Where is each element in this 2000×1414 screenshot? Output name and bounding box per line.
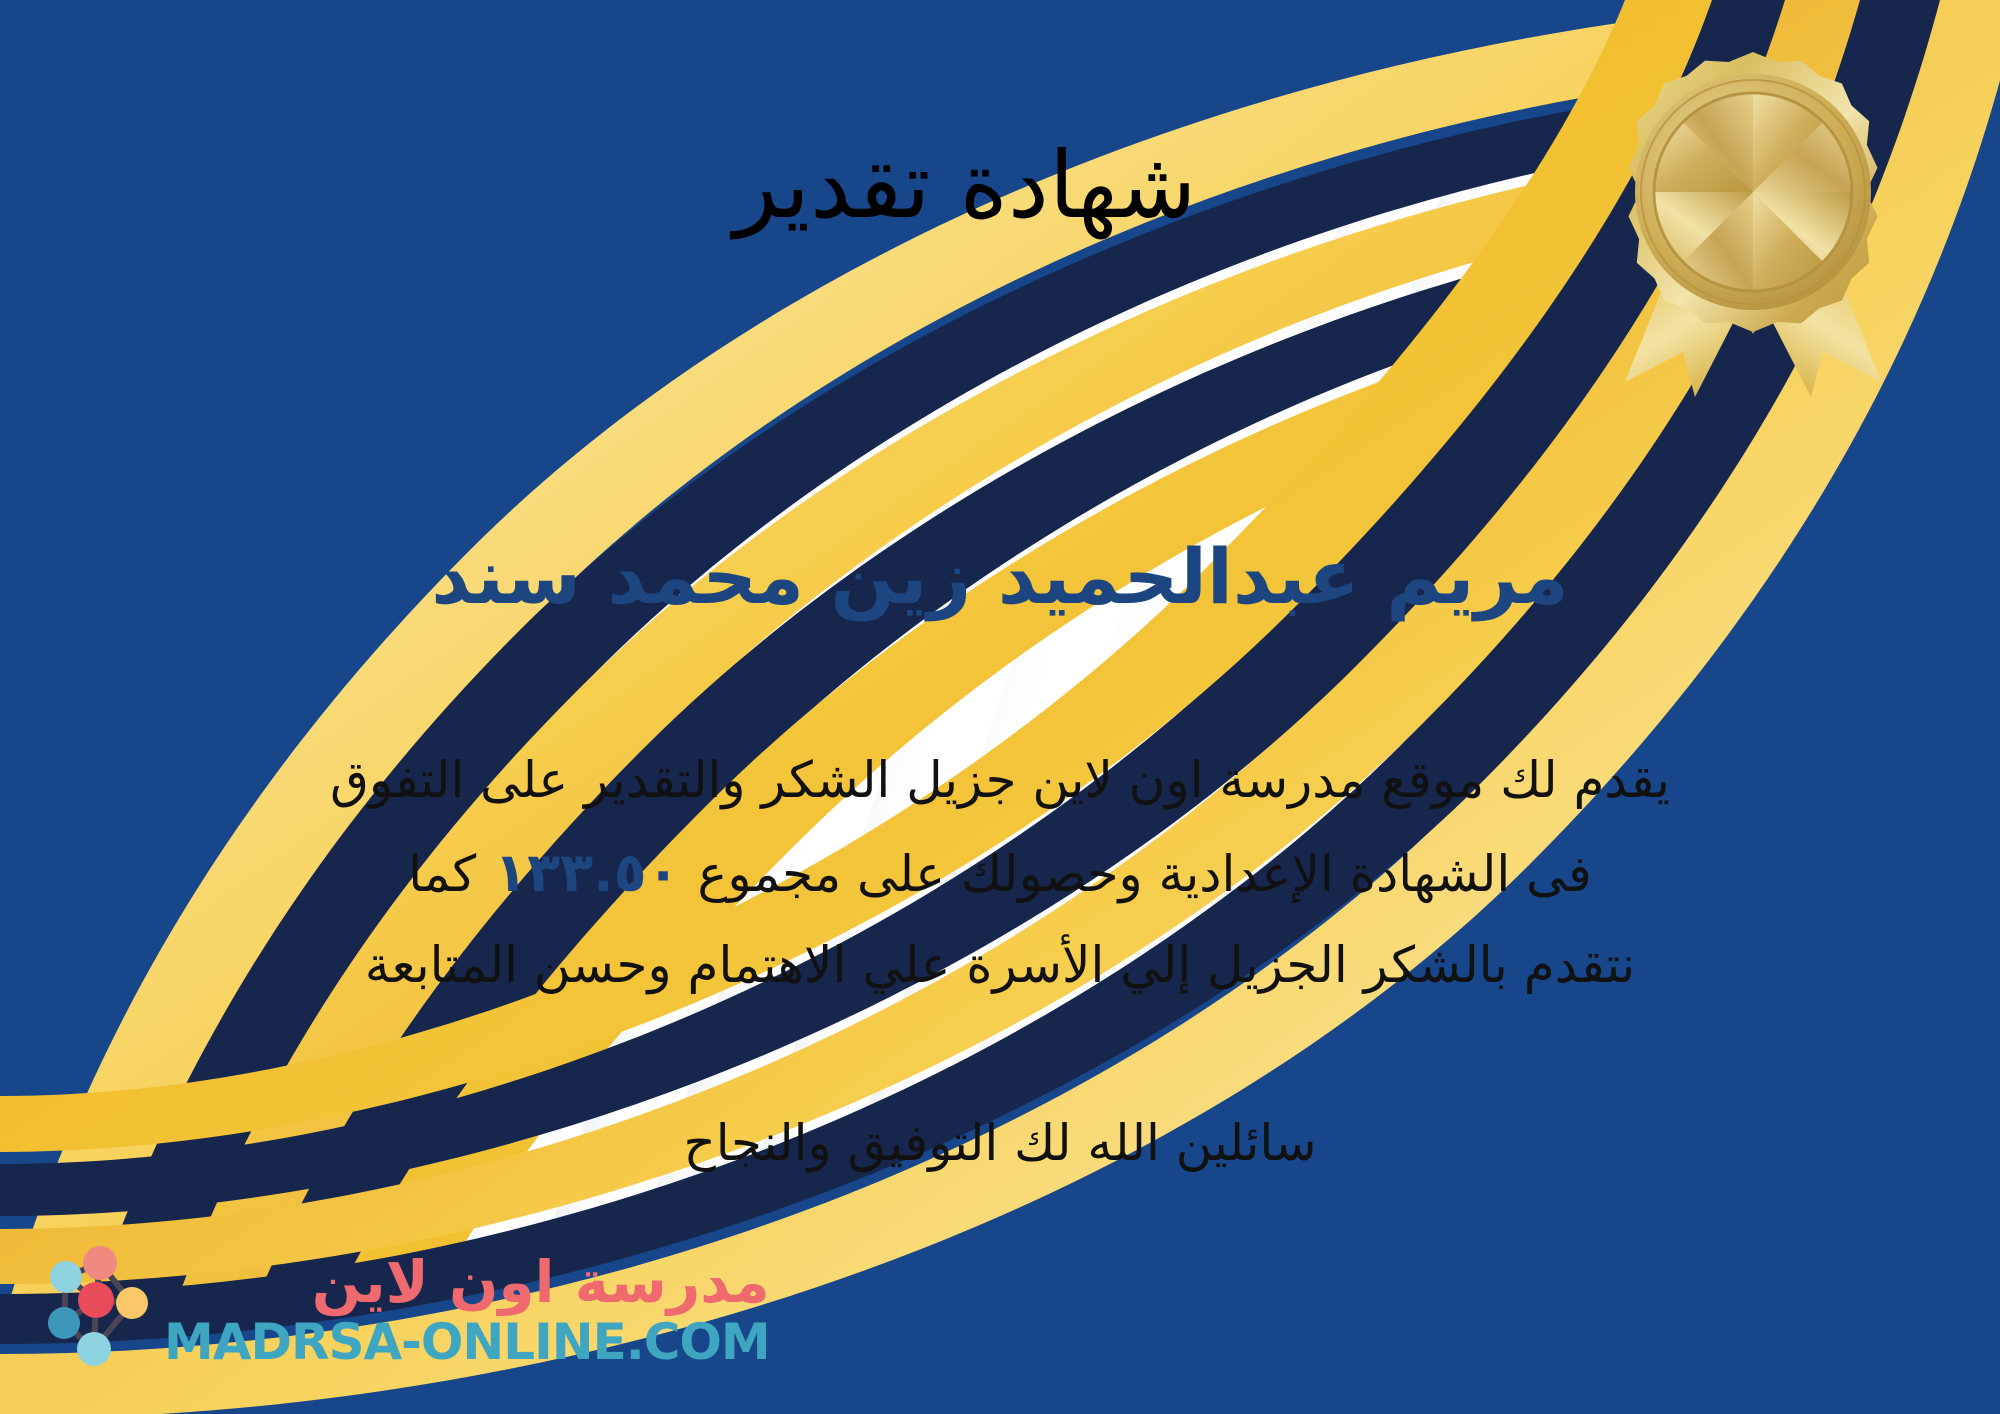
recipient-name: مريم عبدالحميد زين محمد سند	[0, 528, 2000, 627]
body-line-2-text: فى الشهادة الإعدادية وحصولك على مجموع	[698, 845, 1592, 903]
closing-line: سائلين الله لك التوفيق والنجاح	[0, 1114, 2000, 1172]
certificate-canvas: شهادة تقدير مريم عبدالحميد زين محمد سند …	[0, 0, 2000, 1414]
certificate-title: شهادة تقدير	[0, 128, 2000, 243]
brand-text-block: مدرسة اون لاين MADRSA-ONLINE.COM	[164, 1253, 770, 1367]
certificate-content: شهادة تقدير مريم عبدالحميد زين محمد سند …	[0, 0, 2000, 1414]
certificate-body: يقدم لك موقع مدرسة اون لاين جزيل الشكر و…	[60, 736, 1940, 1010]
network-nodes-icon	[28, 1245, 158, 1375]
body-line-2: فى الشهادة الإعدادية وحصولك على مجموع١٣٣…	[60, 825, 1940, 921]
score-value: ١٣٣.٥٠	[476, 841, 697, 904]
brand-name-arabic: مدرسة اون لاين	[164, 1253, 770, 1311]
brand-logo[interactable]: مدرسة اون لاين MADRSA-ONLINE.COM	[28, 1230, 588, 1390]
body-line-1: يقدم لك موقع مدرسة اون لاين جزيل الشكر و…	[60, 736, 1940, 825]
body-line-3: نتقدم بالشكر الجزيل إلي الأسرة علي الاهت…	[60, 921, 1940, 1010]
brand-url: MADRSA-ONLINE.COM	[164, 1317, 770, 1367]
body-line-2-tail: كما	[408, 845, 476, 903]
